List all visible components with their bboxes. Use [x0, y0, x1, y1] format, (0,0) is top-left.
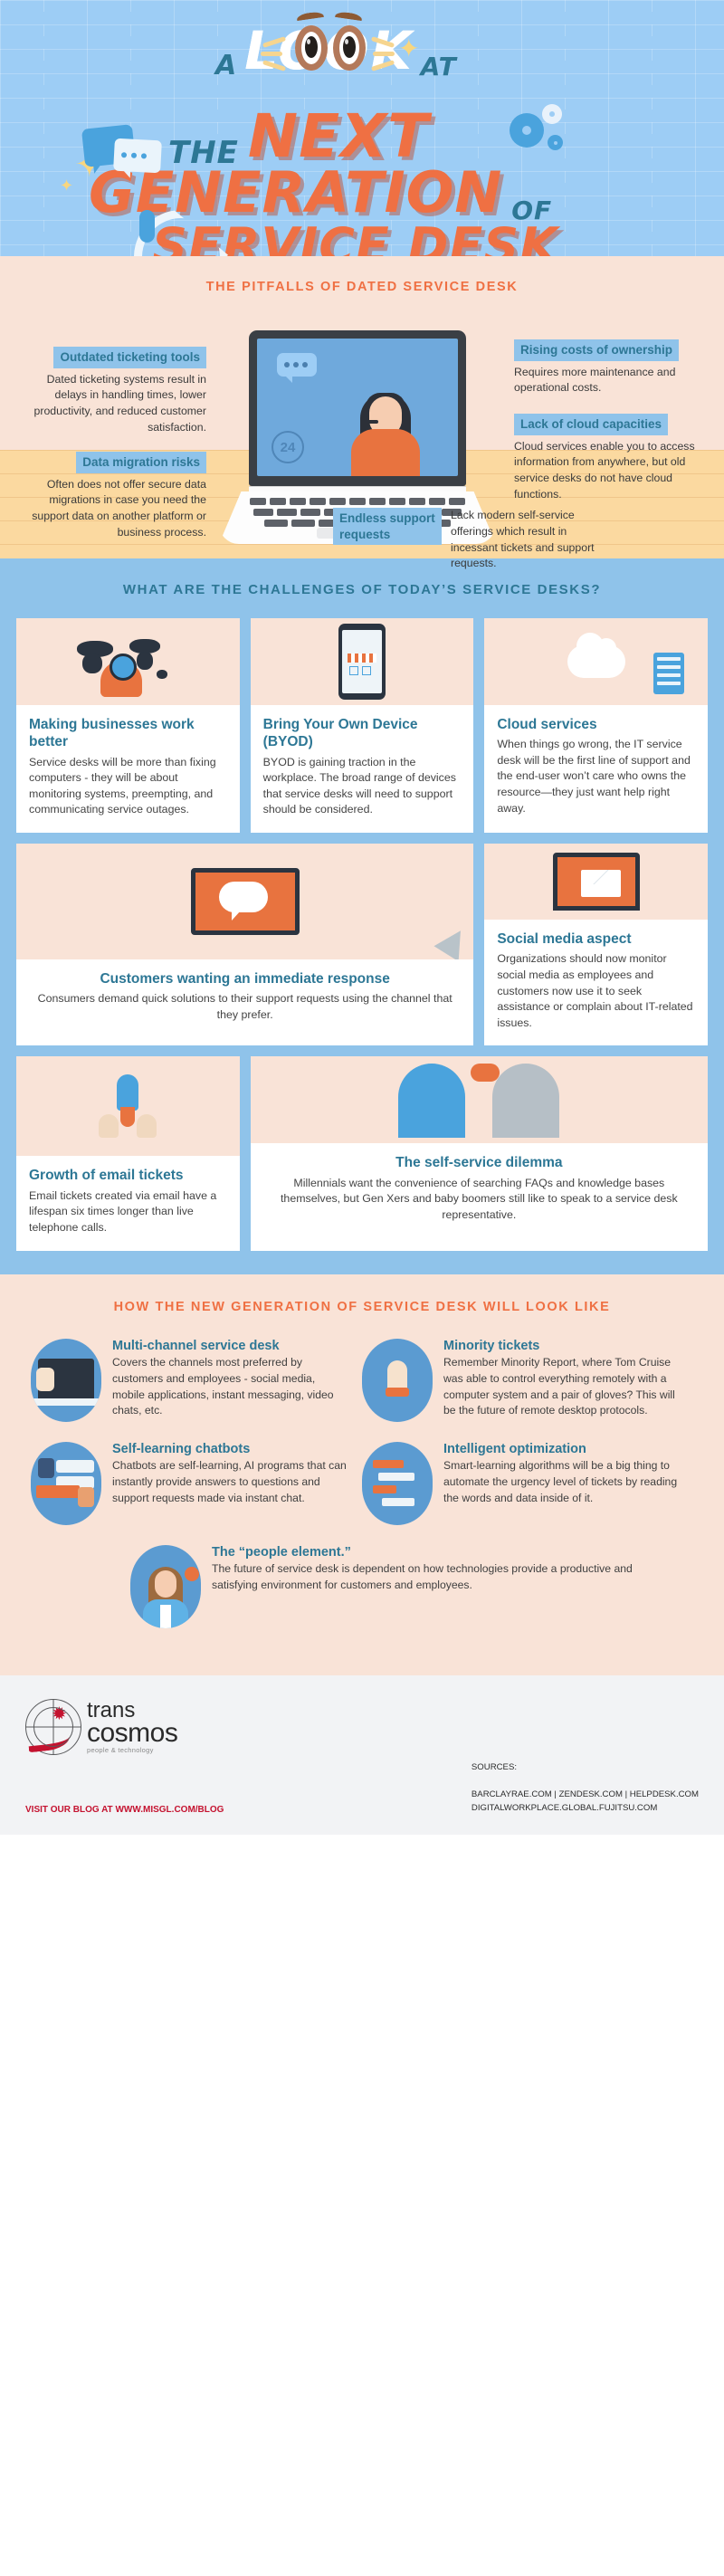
card-body: BYOD is gaining traction in the workplac… [263, 755, 462, 818]
newgen-item-body: The future of service desk is dependent … [212, 1561, 681, 1593]
callout-body: Often does not offer secure data migrati… [16, 477, 206, 541]
new-generation-items: Multi-channel service desk Covers the ch… [0, 1339, 724, 1648]
card-heading: Customers wanting an immediate response [29, 970, 461, 987]
infographic-page: A LOOK AT THE NEXT GENERATION [0, 0, 724, 1835]
transcosmos-logo: ✹ trans cosmos people & technology [25, 1699, 699, 1755]
card-heading: The self-service dilemma [263, 1154, 695, 1171]
newgen-item-self-learning-chatbots: Self-learning chatbots Chatbots are self… [31, 1442, 362, 1525]
newgen-item-multi-channel-service-desk: Multi-channel service desk Covers the ch… [31, 1339, 362, 1422]
chat-bubbles-icon [83, 127, 134, 165]
pitfall-callout-data-migration-risks: Data migration risks Often does not offe… [16, 452, 206, 541]
rocket-hands-icon [100, 1074, 155, 1138]
card-artwork [484, 844, 708, 920]
two-faces-icon [384, 1062, 574, 1138]
card-body: Millennials want the convenience of sear… [263, 1176, 695, 1224]
card-artwork [251, 618, 474, 705]
challenge-card: The self-service dilemma Millennials wan… [251, 1056, 708, 1250]
desk-illustration: 24 Outdated ticketing tools Dated ticket… [0, 314, 724, 558]
new-generation-section-title: HOW THE NEW GENERATION OF SERVICE DESK W… [0, 1298, 724, 1318]
callout-body: Lack modern self-service offerings which… [451, 508, 605, 572]
hero-banner: A LOOK AT THE NEXT GENERATION [0, 0, 724, 256]
card-artwork [16, 618, 240, 705]
server-rack-icon [653, 653, 684, 694]
card-body: When things go wrong, the IT service des… [497, 737, 695, 816]
newgen-item-body: Remember Minority Report, where Tom Crui… [443, 1355, 681, 1419]
blog-link-line: VISIT OUR BLOG AT WWW.MISGL.COM/BLOG [25, 1805, 224, 1815]
laptop-envelope-icon [553, 853, 640, 911]
challenge-card: Growth of email tickets Email tickets cr… [16, 1056, 240, 1250]
card-body: Email tickets created via email have a l… [29, 1188, 227, 1236]
cloud-server-icon [567, 645, 625, 678]
hero-word-at: AT [421, 52, 457, 81]
challenge-card: Making businesses work better Service de… [16, 618, 240, 833]
brand-tagline: people & technology [87, 1748, 177, 1754]
globe-icon: ✹ [25, 1699, 81, 1755]
callout-body: Dated ticketing systems result in delays… [16, 372, 206, 436]
sources-label: SOURCES: [472, 1760, 699, 1774]
newgen-item-heading: The “people element.” [212, 1545, 681, 1560]
callout-body: Requires more maintenance and operationa… [514, 365, 704, 397]
card-body: Consumers demand quick solutions to thei… [29, 991, 461, 1023]
new-generation-section: HOW THE NEW GENERATION OF SERVICE DESK W… [0, 1274, 724, 1676]
card-artwork [16, 844, 473, 959]
callout-tag: Outdated ticketing tools [53, 347, 206, 368]
challenge-card: Customers wanting an immediate response … [16, 844, 473, 1045]
callout-tag: Endless support requests [333, 508, 442, 545]
gantt-chart-icon [362, 1442, 433, 1525]
callout-tag: Lack of cloud capacities [514, 414, 668, 435]
sparkle-icon: ✦ [60, 177, 73, 194]
pitfall-callout-lack-of-cloud-capacities: Lack of cloud capacities Cloud services … [514, 414, 704, 503]
hero-word-a: A [215, 50, 237, 81]
chat-people-icon [31, 1442, 101, 1525]
pitfalls-section-title: THE PITFALLS OF DATED SERVICE DESK [0, 280, 724, 294]
footer: ✹ trans cosmos people & technology VISIT… [0, 1675, 724, 1835]
sparkle-icon: ✦ [398, 36, 419, 62]
card-heading: Bring Your Own Device (BYOD) [263, 716, 462, 751]
pitfalls-section: THE PITFALLS OF DATED SERVICE DESK [0, 256, 724, 558]
card-heading: Social media aspect [497, 930, 695, 948]
laptop-illustration: 24 [249, 330, 466, 499]
newgen-item-heading: Self-learning chatbots [112, 1442, 349, 1456]
callout-body: Cloud services enable you to access info… [514, 439, 704, 503]
newgen-item-body: Smart-learning algorithms will be a big … [443, 1458, 681, 1506]
card-heading: Cloud services [497, 716, 695, 733]
challenge-card: Cloud services When things go wrong, the… [484, 618, 708, 833]
blog-prefix-text: VISIT OUR BLOG AT [25, 1805, 115, 1815]
brand-line-2: cosmos [87, 1721, 177, 1746]
pitfall-callout-outdated-ticketing-tools: Outdated ticketing tools Dated ticketing… [16, 347, 206, 436]
headset-icon [134, 210, 228, 256]
card-heading: Making businesses work better [29, 716, 227, 751]
newgen-item-heading: Minority tickets [443, 1339, 681, 1353]
newgen-item-body: Covers the channels most preferred by cu… [112, 1355, 349, 1419]
newgen-item-heading: Multi-channel service desk [112, 1339, 349, 1353]
laptop-thumbs-up-icon [31, 1339, 101, 1422]
challenges-section: WHAT ARE THE CHALLENGES OF TODAY’S SERVI… [0, 558, 724, 1274]
star-icon: ✹ [52, 1705, 67, 1723]
card-artwork [16, 1056, 240, 1156]
sources-block: SOURCES: BARCLAYRAE.COM | ZENDESK.COM | … [472, 1760, 699, 1815]
monitor-chat-cursor-icon [191, 868, 300, 935]
callout-tag: Rising costs of ownership [514, 339, 679, 361]
sources-line-1: BARCLAYRAE.COM | ZENDESK.COM | HELPDESK.… [472, 1788, 699, 1801]
card-artwork [484, 618, 708, 705]
pitfall-callout-rising-costs-of-ownership: Rising costs of ownership Requires more … [514, 339, 704, 396]
newgen-item-heading: Intelligent optimization [443, 1442, 681, 1456]
challenge-card: Bring Your Own Device (BYOD) BYOD is gai… [251, 618, 474, 833]
challenges-section-title: WHAT ARE THE CHALLENGES OF TODAY’S SERVI… [0, 580, 724, 600]
support-agent-avatar [344, 367, 427, 476]
pitfall-callout-endless-support-requests: Endless support requests Lack modern sel… [333, 508, 695, 572]
card-body: Organizations should now monitor social … [497, 951, 695, 1031]
pointing-hand-icon [362, 1339, 433, 1422]
mobile-phone-icon [338, 624, 386, 700]
chat-dots-icon [471, 1064, 500, 1082]
cartoon-eyes-icon [295, 25, 371, 74]
challenges-row-1: Making businesses work better Service de… [0, 618, 724, 833]
newgen-item-minority-tickets: Minority tickets Remember Minority Repor… [362, 1339, 693, 1422]
twenty-four-seven-badge: 24 [271, 431, 304, 463]
callout-tag: Data migration risks [76, 452, 206, 473]
speed-line-decoration [261, 52, 282, 56]
support-agent-icon [130, 1545, 201, 1628]
speed-line-decoration [373, 52, 395, 56]
newgen-item-body: Chatbots are self-learning, AI programs … [112, 1458, 349, 1506]
newgen-item-intelligent-optimization: Intelligent optimization Smart-learning … [362, 1442, 693, 1525]
challenges-row-3: Growth of email tickets Email tickets cr… [0, 1056, 724, 1250]
world-map-magnifier-icon [73, 635, 182, 688]
card-body: Service desks will be more than fixing c… [29, 755, 227, 818]
sources-line-2: DIGITALWORKPLACE.GLOBAL.FUJITSU.COM [472, 1801, 699, 1815]
chat-bubble-icon [277, 353, 317, 377]
card-heading: Growth of email tickets [29, 1167, 227, 1184]
challenge-card: Social media aspect Organizations should… [484, 844, 708, 1045]
newgen-item-people-element: The “people element.” The future of serv… [31, 1545, 693, 1628]
challenges-row-2: Customers wanting an immediate response … [0, 844, 724, 1045]
blog-url-link[interactable]: WWW.MISGL.COM/BLOG [115, 1805, 224, 1815]
card-artwork [251, 1056, 708, 1143]
